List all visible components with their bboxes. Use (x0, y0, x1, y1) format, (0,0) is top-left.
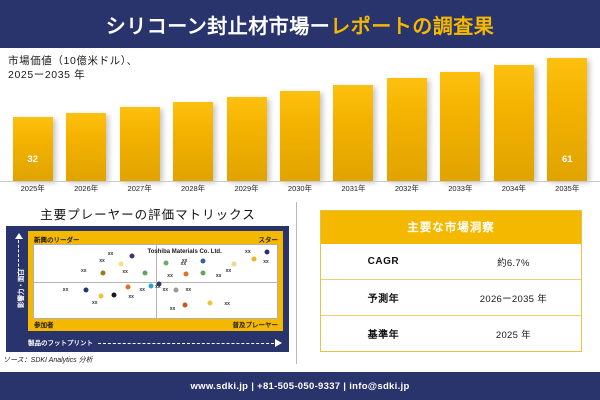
matrix-data-point-label: xx (263, 259, 269, 265)
x-axis-tick-label: 2032年 (384, 183, 430, 194)
chart-axis-line (0, 181, 600, 182)
page-title-primary: シリコーン封止材市場ー (106, 16, 331, 38)
matrix-x-axis: 製品のフットプリント (28, 335, 284, 349)
x-axis-tick-label: 2026年 (63, 183, 109, 194)
quadrant-label-pervasive: 普及プレーヤー (233, 319, 279, 329)
matrix-data-point (119, 261, 124, 266)
matrix-data-point-label: xx (139, 287, 145, 293)
bar-column (173, 48, 213, 181)
y-axis-label: 影響力・面白 (15, 256, 25, 308)
matrix-data-point-label: xx (182, 258, 188, 264)
x-axis-tick-label: 2035年 (544, 183, 590, 194)
insights-table-row: CAGR約6.7% (321, 244, 581, 279)
bar-column (440, 48, 480, 181)
section-divider (296, 202, 297, 364)
bar-value-label: 32 (13, 154, 53, 165)
quadrant-horizontal-divider (34, 282, 277, 283)
matrix-data-point (200, 271, 205, 276)
bar-column (227, 48, 267, 181)
matrix-data-point-label: xx (224, 301, 230, 307)
bar-column (387, 48, 427, 181)
market-value-chart: 市場価値（10億米ドル）、 2025ー2035 年 3261 2025年2026… (0, 48, 600, 200)
page-title-accent: レポートの調査果 (330, 16, 494, 38)
chart-bar (440, 72, 480, 181)
insights-table-body: CAGR約6.7%予測年2026ー2035 年基準年2025 年 (321, 244, 581, 351)
matrix-data-point-label: xx (226, 268, 232, 274)
matrix-data-point (112, 292, 117, 297)
matrix-data-point (142, 270, 147, 275)
matrix-data-point-label: xx (63, 287, 69, 293)
matrix-plot-frame: 新興のリーダー スター 参加者 普及プレーヤー Toshiba Material… (28, 231, 283, 331)
matrix-data-point (183, 272, 188, 277)
matrix-y-axis: 影響力・面白 (11, 231, 27, 331)
matrix-data-point-label: xx (81, 268, 87, 274)
matrix-data-point (101, 270, 106, 275)
matrix-data-point (98, 294, 103, 299)
insights-row-value: 約6.7% (446, 255, 581, 269)
x-axis-dashed-line (98, 343, 274, 344)
matrix-data-point-label: xx (186, 287, 192, 293)
matrix-data-point-label: xx (128, 294, 134, 300)
matrix-data-point (84, 288, 89, 293)
insights-row-key: 予測年 (321, 290, 446, 305)
matrix-data-point (200, 259, 205, 264)
insights-row-value: 2026ー2035 年 (446, 291, 581, 305)
matrix-data-point (130, 253, 135, 258)
insights-table-row: 基準年2025 年 (321, 315, 581, 351)
report-infographic: シリコーン封止材市場ーレポートの調査果 市場価値（10億米ドル）、 2025ー2… (0, 0, 600, 400)
insights-row-key: 基準年 (321, 326, 446, 341)
matrix-data-point-label: xx (122, 269, 128, 275)
matrix-data-point (174, 287, 179, 292)
bar-column: 32 (13, 48, 53, 181)
page-footer: www.sdki.jp | +81-505-050-9337 | info@sd… (0, 372, 600, 400)
source-note: ソース：SDKI Analytics 分析 (3, 355, 93, 365)
insights-row-value: 2025 年 (446, 327, 581, 341)
matrix-named-player-label: Toshiba Materials Co. Ltd. (148, 249, 222, 255)
x-axis-arrow-icon (275, 339, 282, 347)
x-axis-tick-label: 2029年 (224, 183, 270, 194)
matrix-scatter-grid: Toshiba Materials Co. Ltd. xxxxxxxxxxxxx… (33, 244, 278, 319)
bar-column (333, 48, 373, 181)
y-axis-arrow-icon (15, 233, 23, 239)
matrix-data-point-label: xx (216, 273, 222, 279)
matrix-data-point-label: xx (170, 306, 176, 312)
chart-bar (227, 97, 267, 181)
matrix-data-point (265, 249, 270, 254)
bar-column: 61 (547, 48, 587, 181)
x-axis-tick-label: 2028年 (170, 183, 216, 194)
insights-table-row: 予測年2026ー2035 年 (321, 279, 581, 315)
chart-bar (333, 85, 373, 181)
chart-bar (173, 102, 213, 181)
x-axis-tick-label: 2031年 (330, 183, 376, 194)
key-market-insights-table: 主要な市場洞察 CAGR約6.7%予測年2026ー2035 年基準年2025 年 (320, 210, 582, 352)
chart-bar (120, 107, 160, 181)
x-axis-tick-label: 2033年 (437, 183, 483, 194)
matrix-data-point (208, 301, 213, 306)
page-title: シリコーン封止材市場ーレポートの調査果 (106, 10, 495, 39)
chart-bar (494, 65, 534, 181)
page-header: シリコーン封止材市場ーレポートの調査果 (0, 0, 600, 48)
matrix-data-point-label: xx (108, 251, 114, 257)
x-axis-label: 製品のフットプリント (28, 337, 93, 347)
quadrant-label-stars: スター (259, 234, 279, 244)
bar-column (120, 48, 160, 181)
matrix-data-point-label: xx (92, 300, 98, 306)
quadrant-label-emerging-leaders: 新興のリーダー (34, 234, 80, 244)
player-matrix-panel: 主要プレーヤーの評価マトリックス 影響力・面白 新興のリーダー スター 参加者 … (0, 200, 296, 367)
matrix-data-point-label: xx (99, 258, 105, 264)
bar-value-label: 61 (547, 154, 587, 165)
bar-column (66, 48, 106, 181)
lower-section: 主要プレーヤーの評価マトリックス 影響力・面白 新興のリーダー スター 参加者 … (0, 200, 600, 367)
matrix-title: 主要プレーヤーの評価マトリックス (0, 204, 296, 223)
x-axis-tick-label: 2027年 (117, 183, 163, 194)
matrix-data-point (251, 256, 256, 261)
matrix-outer-frame: 影響力・面白 新興のリーダー スター 参加者 普及プレーヤー Toshiba M… (6, 226, 289, 352)
insights-row-key: CAGR (321, 256, 446, 267)
chart-bar (387, 78, 427, 181)
insights-table-header: 主要な市場洞察 (321, 211, 581, 244)
matrix-data-point (232, 261, 237, 266)
matrix-data-point-label: xx (245, 249, 251, 255)
chart-bar (280, 91, 320, 181)
matrix-data-point (182, 302, 187, 307)
x-axis-tick-label: 2034年 (491, 183, 537, 194)
x-axis-tick-label: 2025年 (10, 183, 56, 194)
matrix-data-point (164, 261, 169, 266)
matrix-data-point-label: xx (162, 287, 168, 293)
matrix-data-point (148, 283, 153, 288)
chart-bar (13, 117, 53, 181)
matrix-data-point (157, 282, 162, 287)
quadrant-label-participants: 参加者 (34, 319, 54, 329)
matrix-data-point-label: xx (167, 273, 173, 279)
x-axis-tick-label: 2030年 (277, 183, 323, 194)
chart-plot-area: 3261 (6, 48, 594, 181)
bar-column (494, 48, 534, 181)
matrix-data-point (125, 285, 130, 290)
bar-column (280, 48, 320, 181)
chart-bar (66, 113, 106, 182)
footer-contact-text: www.sdki.jp | +81-505-050-9337 | info@sd… (190, 381, 409, 392)
